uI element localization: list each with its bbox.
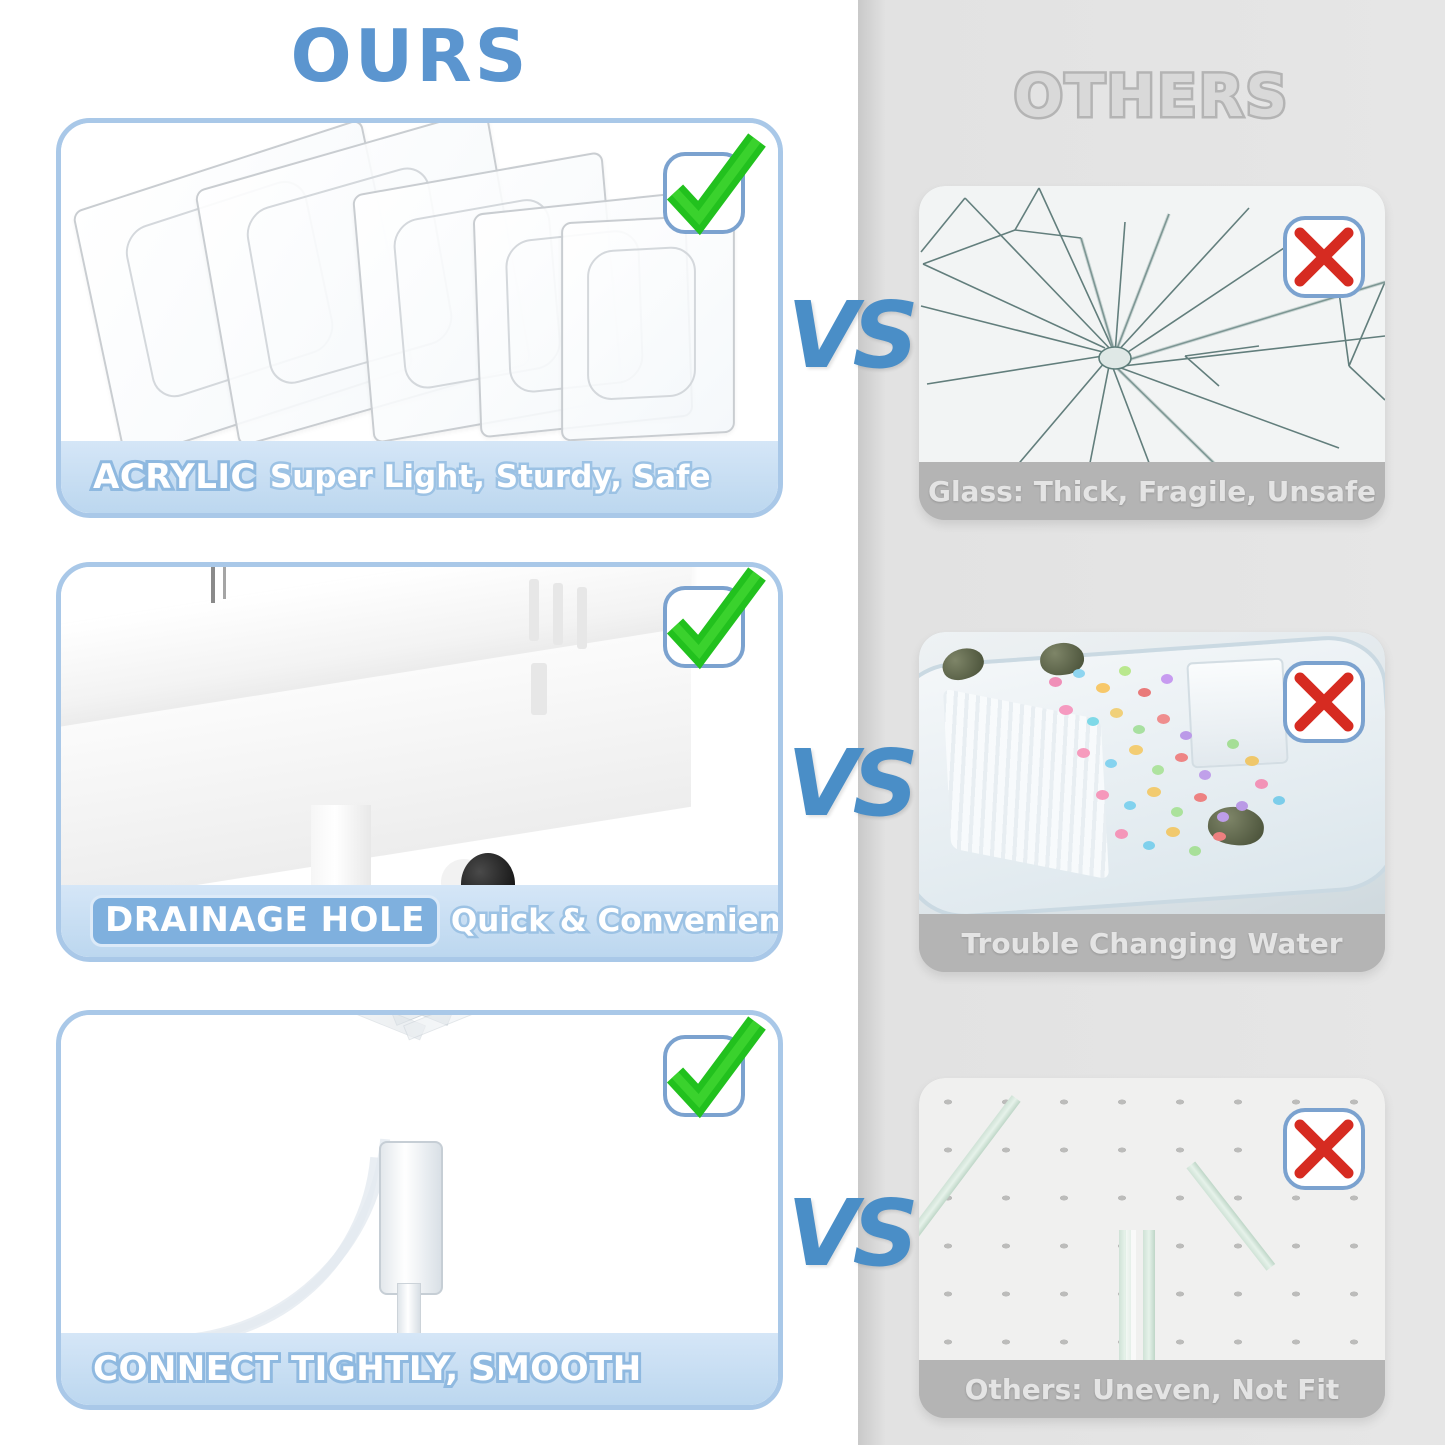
vs-label-1: VS	[790, 280, 910, 390]
drainage-caption-strong: DRAINAGE HOLE	[93, 898, 437, 944]
drainage-caption-light: Quick & Convenient	[451, 903, 783, 939]
infographic-root: OURS OTHERS ACRYLIC Super Light, Sturdy,…	[0, 0, 1445, 1445]
cross-badge-2	[1283, 661, 1365, 743]
drainage-caption-bar: DRAINAGE HOLE Quick & Convenient	[61, 885, 778, 957]
cross-badge-1	[1283, 216, 1365, 298]
connector-caption-strong: CONNECT TIGHTLY, SMOOTH	[93, 1349, 642, 1389]
green-check-icon	[657, 568, 769, 680]
water-change-caption: Trouble Changing Water	[961, 927, 1342, 960]
acrylic-caption-strong: ACRYLIC	[93, 457, 256, 497]
vs-label-3: VS	[790, 1178, 910, 1288]
green-check-icon	[657, 1017, 769, 1129]
red-cross-icon	[1291, 224, 1357, 290]
cross-badge-3	[1283, 1108, 1365, 1190]
connector-caption-bar: CONNECT TIGHTLY, SMOOTH	[61, 1333, 778, 1405]
glass-caption: Glass: Thick, Fragile, Unsafe	[928, 475, 1376, 508]
check-badge-1	[663, 152, 745, 234]
vs-label-2: VS	[790, 728, 910, 838]
uneven-caption: Others: Uneven, Not Fit	[965, 1373, 1340, 1406]
acrylic-caption-bar: ACRYLIC Super Light, Sturdy, Safe	[61, 441, 778, 513]
check-badge-3	[663, 1035, 745, 1117]
red-cross-icon	[1291, 1116, 1357, 1182]
check-badge-2	[663, 586, 745, 668]
glass-caption-bar: Glass: Thick, Fragile, Unsafe	[919, 462, 1385, 520]
green-check-icon	[657, 134, 769, 246]
water-change-caption-bar: Trouble Changing Water	[919, 914, 1385, 972]
others-heading: OTHERS	[858, 62, 1445, 130]
ours-heading: OURS	[0, 14, 820, 98]
acrylic-caption-light: Super Light, Sturdy, Safe	[270, 459, 711, 495]
red-cross-icon	[1291, 669, 1357, 735]
uneven-caption-bar: Others: Uneven, Not Fit	[919, 1360, 1385, 1418]
